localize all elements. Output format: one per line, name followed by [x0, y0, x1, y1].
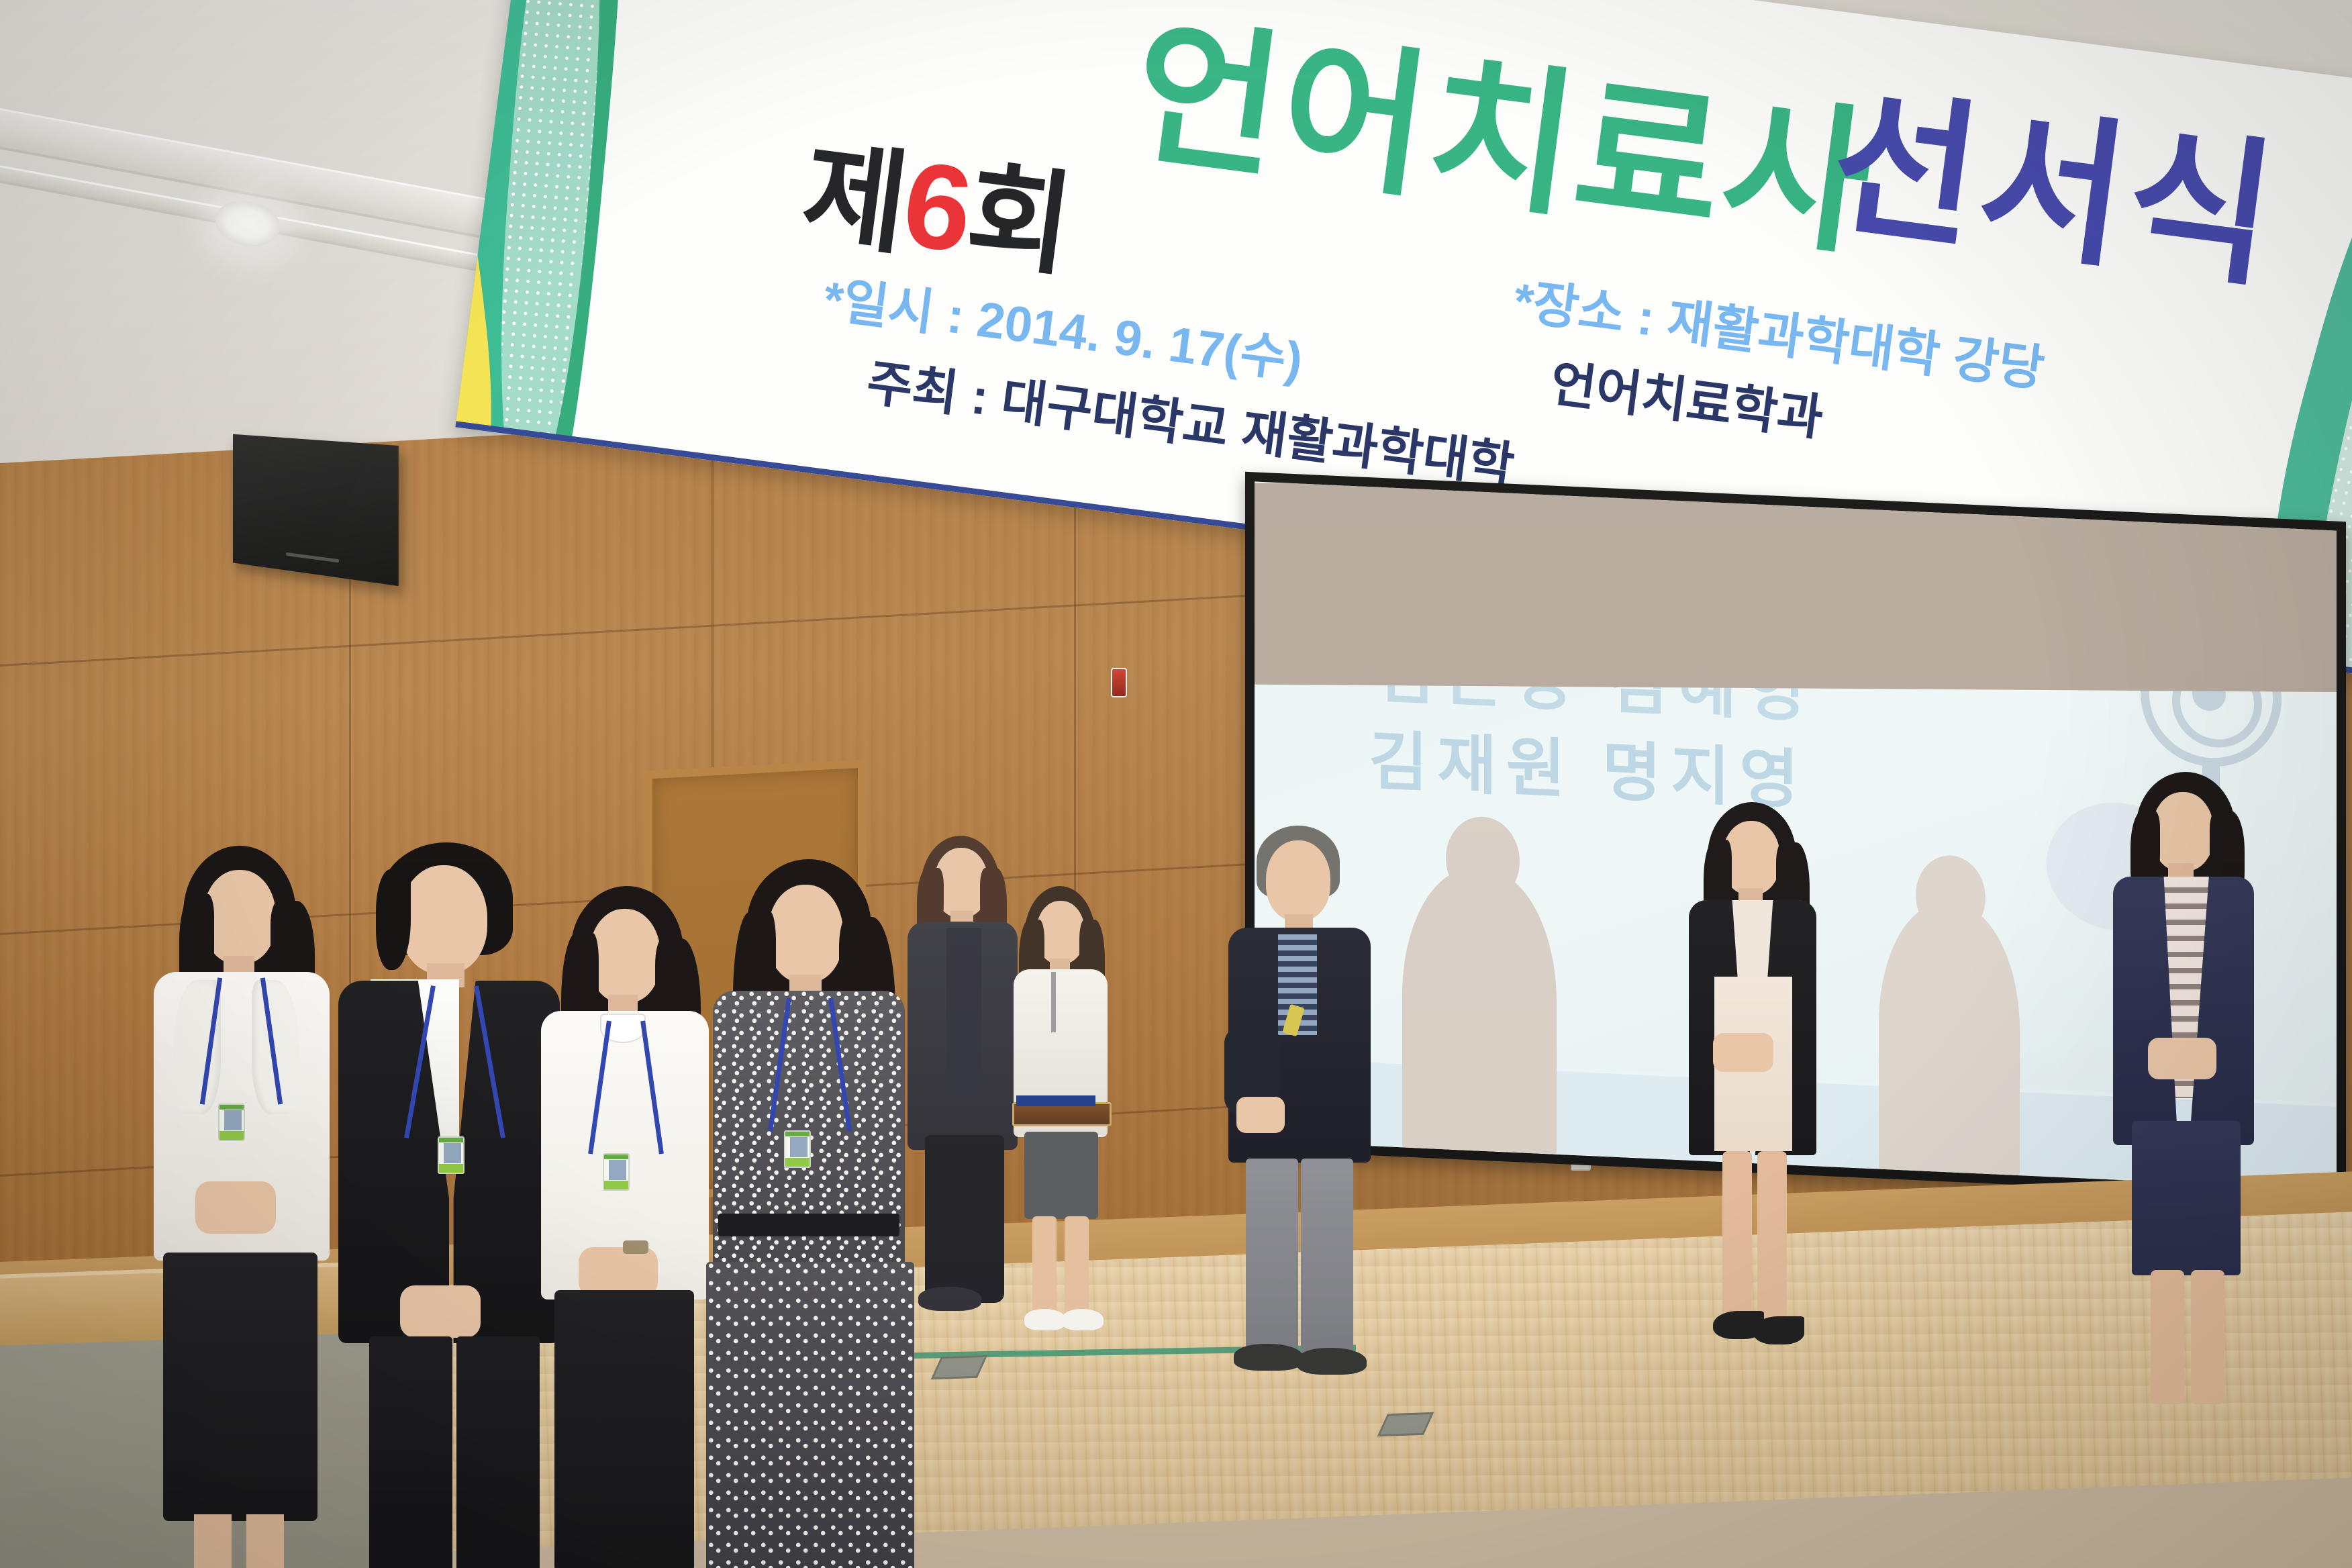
blouse-ruffle: [252, 980, 299, 1114]
banner-ordinal-prefix: 제: [796, 130, 913, 268]
fire-alarm-light-icon: [1111, 668, 1127, 697]
hands: [1713, 1033, 1773, 1072]
photograph-scene: 제6회 언어치료사 선서식 *일시 : 2014. 9. 17(수) *장소 :…: [0, 0, 2352, 1568]
person-faculty-navy-blazer-male: [1222, 826, 1376, 1363]
banner-title-part1: 언어치료사: [1122, 0, 1888, 286]
dress-belt: [718, 1214, 899, 1236]
person-graduate-white-ruffle-blouse: [144, 846, 346, 1568]
plaque-ribbon: [1016, 1095, 1095, 1106]
id-badge: [438, 1136, 464, 1174]
banner-left-graphic: [455, 0, 811, 463]
person-faculty-black-jacket-female: [1678, 802, 1832, 1366]
ceiling-speaker-icon: [233, 434, 399, 586]
person-staff-white-blouse: [1000, 886, 1121, 1316]
hands: [2148, 1038, 2216, 1079]
hands: [579, 1247, 658, 1297]
person-faculty-navy-suit-female: [2101, 772, 2269, 1376]
screen-top-shade: [1255, 483, 2337, 693]
person-graduate-patterned-dress: [698, 859, 926, 1568]
screen-silhouette-right: [1879, 901, 2020, 1176]
wall-seam: [0, 589, 1342, 667]
wristwatch-icon: [623, 1240, 648, 1254]
banner-ordinal-suffix: 회: [960, 151, 1077, 289]
hands: [1236, 1097, 1285, 1133]
id-badge: [603, 1153, 630, 1191]
speaker-grille-bar: [286, 552, 339, 562]
hands: [195, 1181, 276, 1234]
id-badge: [218, 1104, 245, 1141]
screen-silhouette-left: [1402, 865, 1557, 1154]
hands: [400, 1285, 481, 1338]
banner-title-part2: 선서식: [1820, 33, 2292, 318]
id-badge: [784, 1130, 811, 1168]
